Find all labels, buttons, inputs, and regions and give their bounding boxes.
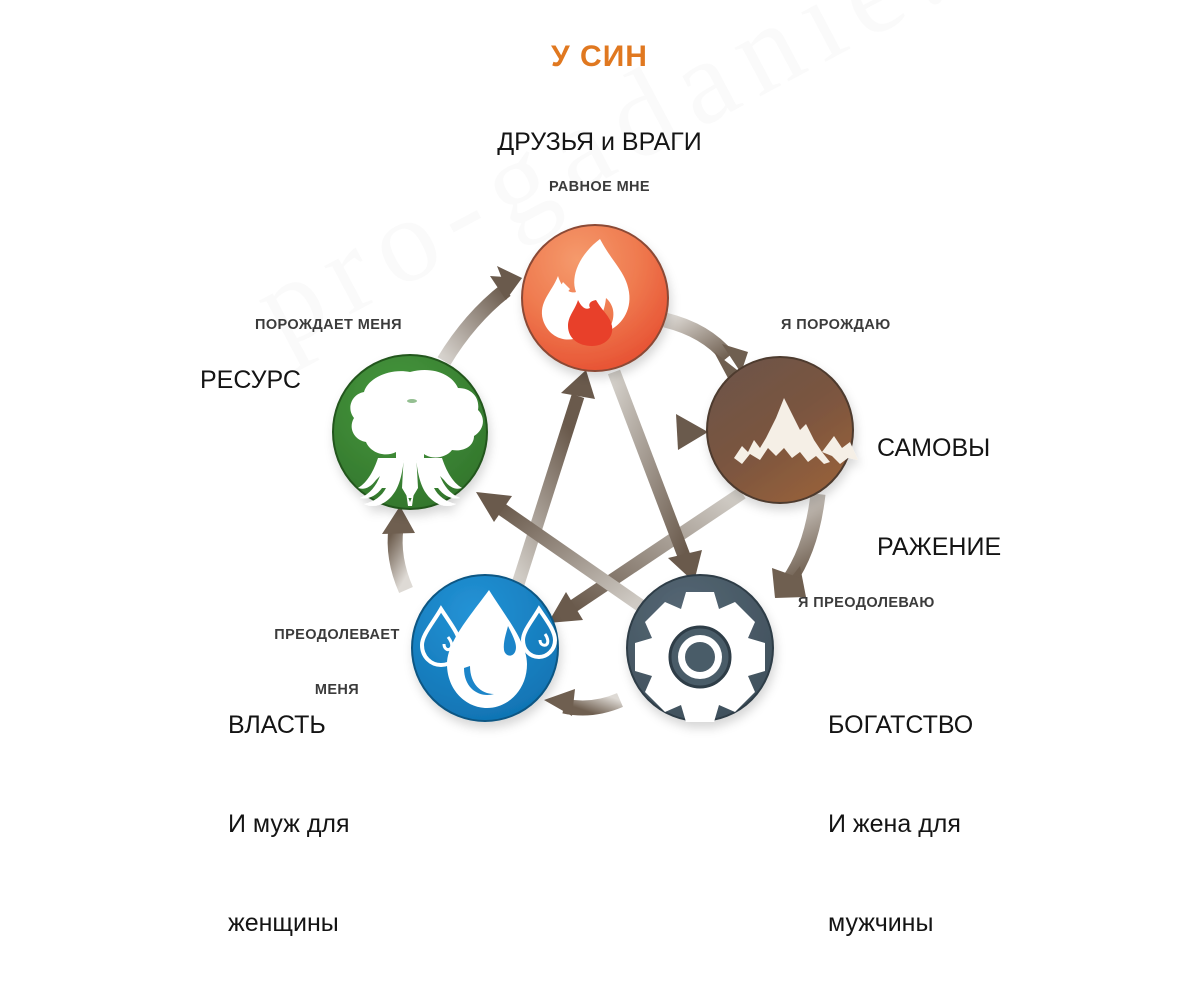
- arrow-metal-to-water: [544, 689, 620, 716]
- water-element-line3: женщины: [228, 907, 350, 940]
- wood-element-label: РЕСУРС: [200, 364, 301, 397]
- water-element-line1: ВЛАСТЬ: [228, 709, 350, 742]
- node-fire[interactable]: [522, 225, 668, 371]
- water-relation-line1: ПРЕОДОЛЕВАЕТ: [244, 626, 430, 644]
- earth-element-line1: САМОВЫ: [877, 432, 1001, 465]
- earth-element-line2: РАЖЕНИЕ: [877, 531, 1001, 564]
- arrow-earth-to-metal: [772, 494, 818, 598]
- water-element-line2: И муж для: [228, 808, 350, 841]
- metal-element-line2: И жена для: [828, 808, 973, 841]
- arrow-wood-to-fire: [444, 266, 522, 361]
- wood-relation-label: ПОРОЖДАЕТ МЕНЯ: [255, 316, 402, 334]
- arrow-water-to-wood: [382, 506, 415, 590]
- fire-relation-label: РАВНОЕ МНЕ: [0, 178, 1199, 196]
- node-water[interactable]: [412, 575, 558, 721]
- metal-element-line3: мужчины: [828, 907, 973, 940]
- metal-element-line1: БОГАТСТВО: [828, 709, 973, 742]
- wu-xing-diagram: [0, 0, 1199, 810]
- node-metal[interactable]: [627, 575, 773, 722]
- tree-canopy-shade: [407, 399, 417, 403]
- node-wood[interactable]: [333, 355, 487, 509]
- diagram-canvas: pro-gadanie.ru: [0, 0, 1199, 810]
- earth-relation-label: Я ПОРОЖДАЮ: [781, 316, 891, 334]
- arrow-wood-to-earth: [492, 414, 708, 450]
- node-earth[interactable]: [707, 357, 858, 503]
- metal-relation-label: Я ПРЕОДОЛЕВАЮ: [798, 594, 935, 612]
- water-element-label: ВЛАСТЬ И муж для женщины: [228, 643, 350, 1006]
- page-title: У СИН: [0, 40, 1199, 74]
- earth-element-label: САМОВЫ РАЖЕНИЕ: [877, 366, 1001, 630]
- metal-element-label: БОГАТСТВО И жена для мужчины: [828, 643, 973, 1006]
- fire-element-label: ДРУЗЬЯ и ВРАГИ: [0, 128, 1199, 157]
